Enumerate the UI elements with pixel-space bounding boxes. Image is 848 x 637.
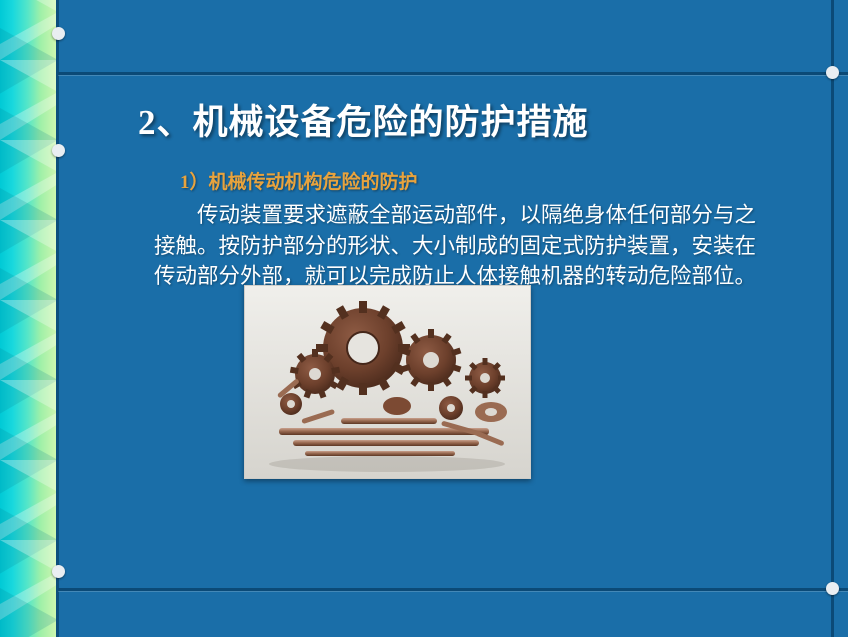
connector-dot [52, 27, 65, 40]
frame-line-right [831, 0, 834, 637]
gear-photo-canvas [245, 286, 530, 478]
connector-dot [826, 582, 839, 595]
slide-subtitle: 1）机械传动机构危险的防护 [78, 167, 822, 194]
connector-dot [826, 66, 839, 79]
connector-dot [52, 565, 65, 578]
frame-line-bottom [58, 588, 848, 591]
slide-body-text: 传动装置要求遮蔽全部运动部件，以隔绝身体任何部分与之接触。按防护部分的形状、大小… [78, 200, 822, 292]
gear-photo [244, 285, 531, 479]
gear-photo-illustration [245, 286, 530, 478]
slide-title: 2、机械设备危险的防护措施 [78, 80, 822, 145]
band-edge-line [56, 0, 59, 637]
decorative-left-band [0, 0, 58, 637]
slide-canvas: 2、机械设备危险的防护措施 1）机械传动机构危险的防护 传动装置要求遮蔽全部运动… [0, 0, 848, 637]
frame-line-top [58, 72, 848, 75]
connector-dot [52, 144, 65, 157]
